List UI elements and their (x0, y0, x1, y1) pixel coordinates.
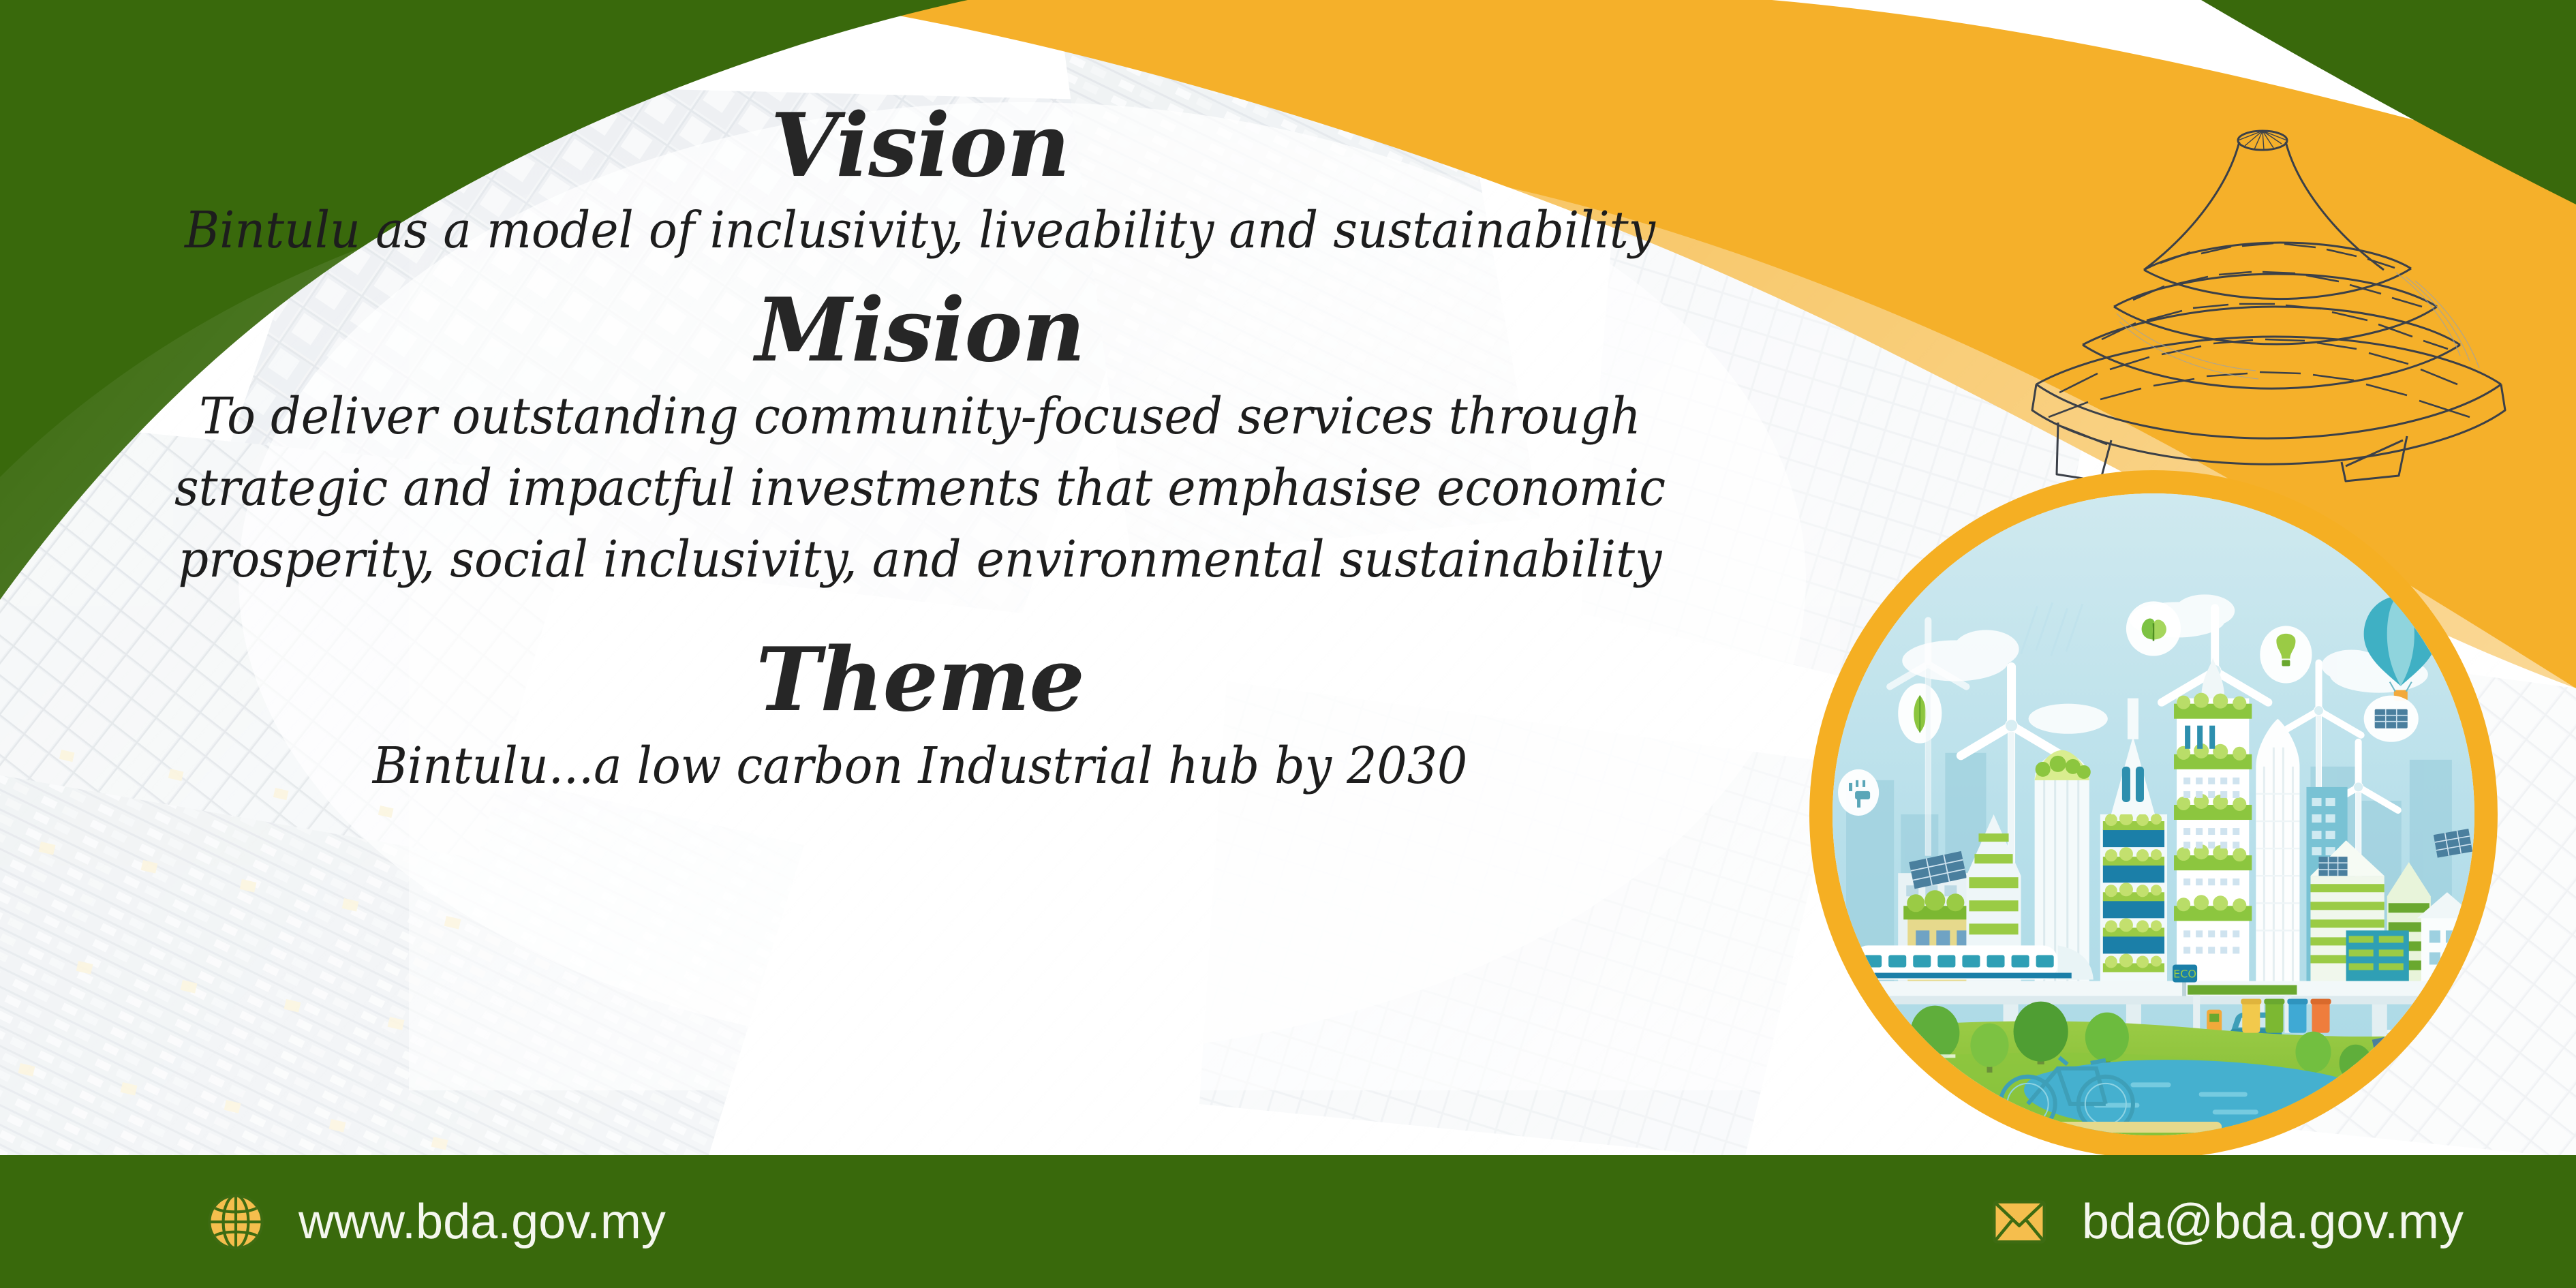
mision-line-3: prosperity, social inclusivity, and envi… (55, 524, 1785, 596)
theme-line-1: Bintulu...a low carbon Industrial hub by… (55, 731, 1785, 802)
globe-icon (204, 1191, 267, 1253)
mision-heading: Mision (0, 287, 1840, 374)
mision-lines: To deliver outstanding community-focused… (0, 381, 1840, 596)
vision-mission-theme-content: Vision Bintulu as a model of inclusivity… (0, 102, 1840, 802)
mision-section: Mision To deliver outstanding community-… (0, 287, 1840, 596)
vision-lines: Bintulu as a model of inclusivity, livea… (0, 195, 1840, 266)
website-label: www.bda.gov.my (298, 1194, 666, 1250)
vision-heading: Vision (0, 102, 1840, 189)
svg-text:ECO: ECO (2173, 968, 2196, 981)
eco-city-illustration: ECO (1833, 493, 2474, 1135)
email-label: bda@bda.gov.my (2082, 1194, 2464, 1250)
envelope-icon (1988, 1191, 2051, 1253)
footer-bar: www.bda.gov.my bda@bda.gov.my (0, 1155, 2576, 1288)
theme-heading: Theme (0, 637, 1840, 724)
mision-line-1: To deliver outstanding community-focused… (55, 381, 1785, 453)
conical-pavilion-sketch-icon (1956, 102, 2569, 484)
vision-section: Vision Bintulu as a model of inclusivity… (0, 102, 1840, 266)
theme-section: Theme Bintulu...a low carbon Industrial … (0, 637, 1840, 802)
vision-line-1: Bintulu as a model of inclusivity, livea… (55, 195, 1785, 266)
theme-lines: Bintulu...a low carbon Industrial hub by… (0, 731, 1840, 802)
bda-vision-mission-theme-banner: ECO (0, 0, 2576, 1288)
footer-website[interactable]: www.bda.gov.my (204, 1191, 666, 1253)
mision-line-2: strategic and impactful investments that… (55, 453, 1785, 524)
footer-email[interactable]: bda@bda.gov.my (1988, 1191, 2464, 1253)
eco-city-circle: ECO (1809, 470, 2498, 1159)
